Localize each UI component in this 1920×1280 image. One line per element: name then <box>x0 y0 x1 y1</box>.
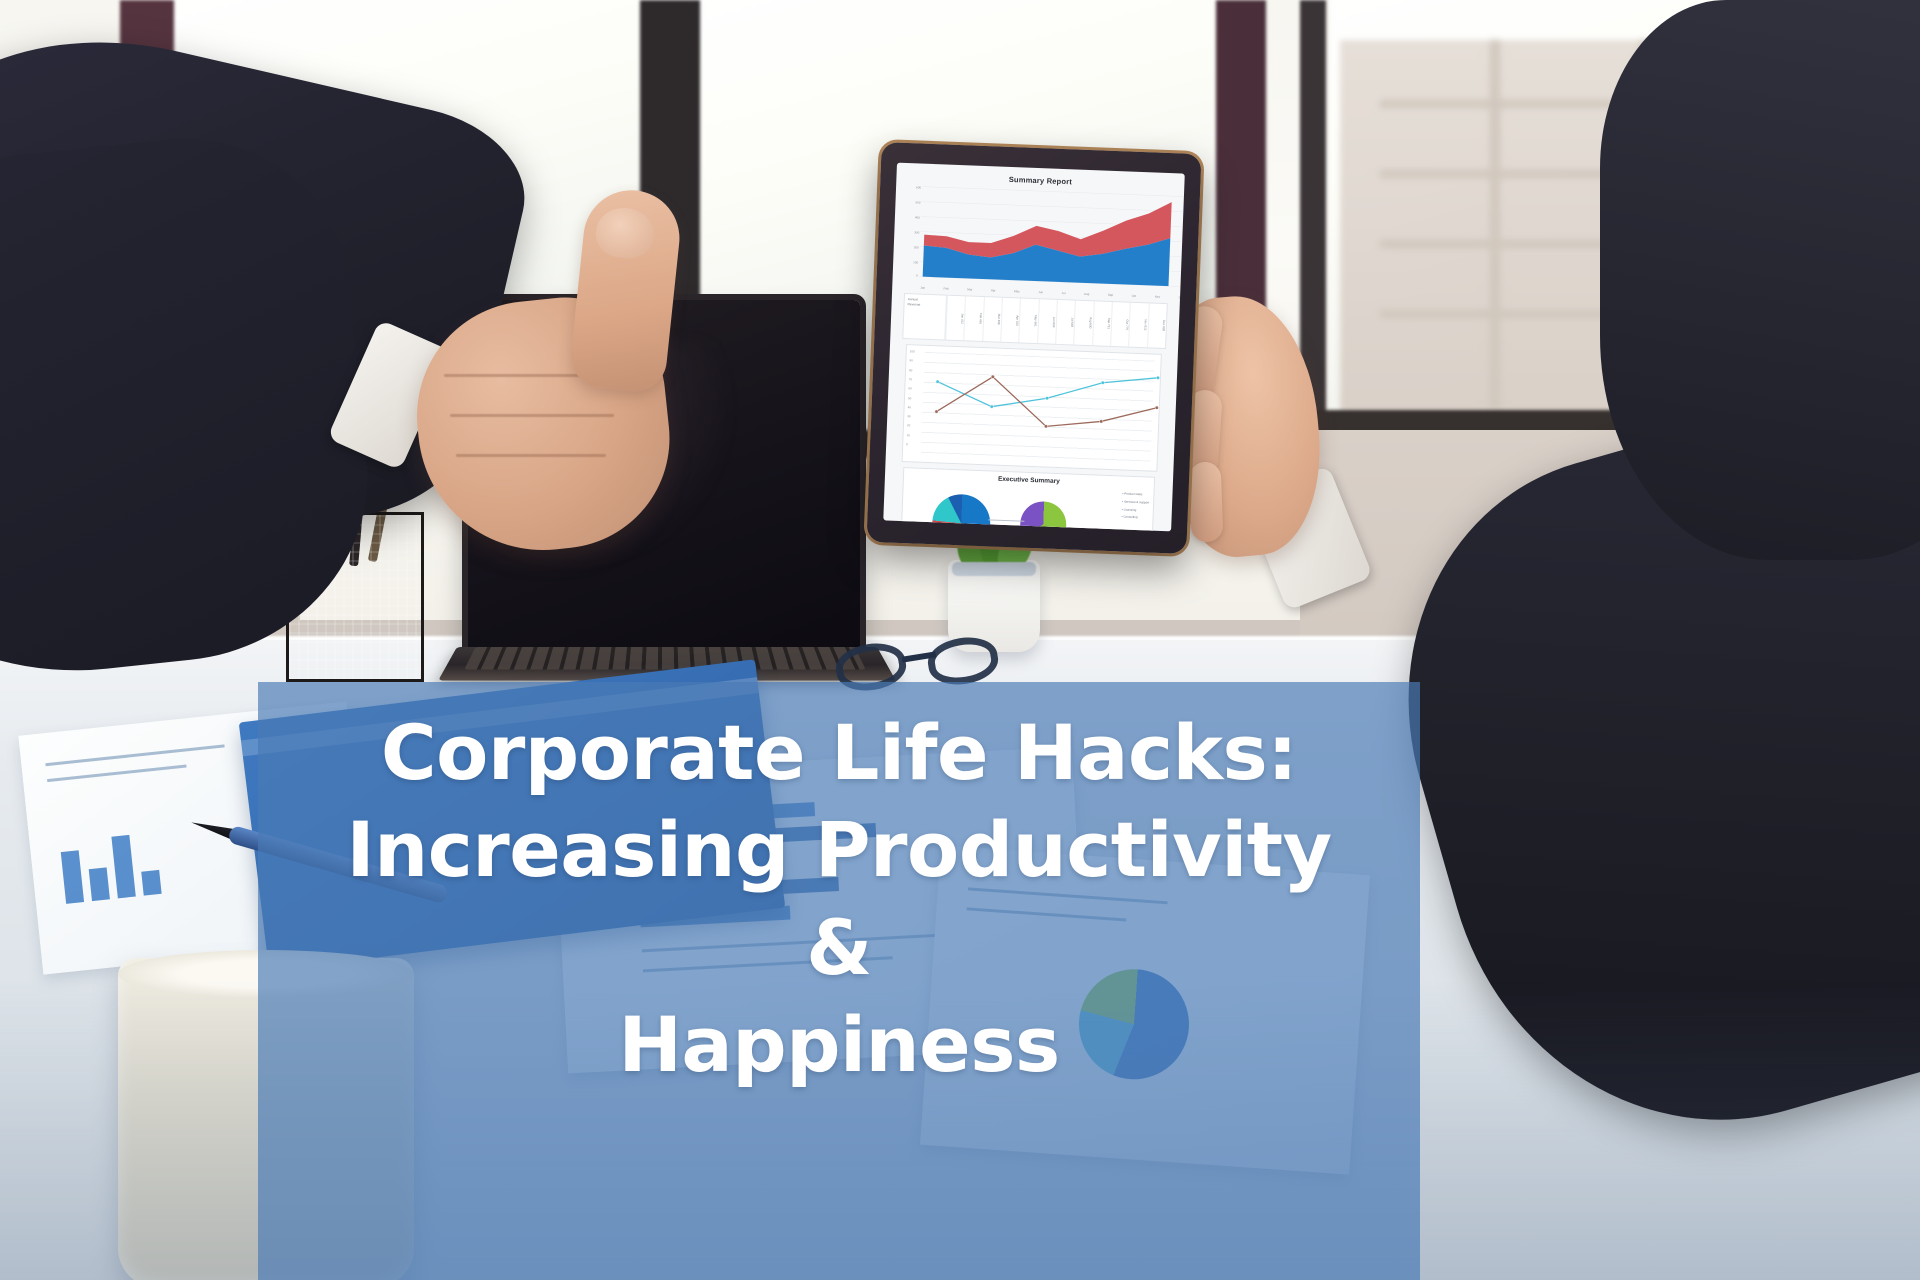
table-cell: Apr 520 <box>1000 298 1020 343</box>
line-chart-y-tick: 60 <box>908 386 911 390</box>
table-cell: Sep 731 <box>1092 301 1112 346</box>
line-chart-y-tick: 30 <box>907 414 910 418</box>
title-line-3: Happiness <box>324 996 1354 1093</box>
banner-image: Summary Report 600 500 400 300 200 100 0… <box>0 0 1920 1280</box>
page-title: Corporate Life Hacks: Increasing Product… <box>324 704 1354 1093</box>
pie-connector-line <box>988 519 1024 521</box>
area-chart-plot <box>919 184 1185 290</box>
table-cell: May 561 <box>1019 298 1039 343</box>
table-cell: Nov 812 <box>1128 303 1148 348</box>
table-cell: Aug 690 <box>1073 301 1093 346</box>
line-chart-y-tick: 70 <box>909 377 912 381</box>
line-chart-y-tick: 0 <box>906 442 908 446</box>
table-cell: Mar 498 <box>982 297 1002 342</box>
line-chart-y-tick: 90 <box>909 359 912 363</box>
title-line-1: Corporate Life Hacks: <box>324 704 1354 801</box>
line-chart-y-tick: 20 <box>907 424 910 428</box>
title-overlay-content: Corporate Life Hacks: Increasing Product… <box>258 682 1420 1280</box>
table-cell: Jul 648 <box>1055 300 1075 345</box>
laptop-keys <box>464 647 865 669</box>
table-cell: Jan 412 <box>945 296 965 341</box>
tablet-pie-section: Executive Summary Product salesServices … <box>900 467 1155 531</box>
table-row-label: AnnualRevenue <box>903 294 947 340</box>
table-cells: Jan 412Feb 455Mar 498Apr 520May 561Jun 6… <box>945 296 1167 348</box>
table-cell: Dec 858 <box>1147 303 1167 348</box>
tablet-line-chart: 1009080706050403020100 <box>902 344 1162 472</box>
tablet-device: Summary Report 600 500 400 300 200 100 0… <box>866 142 1201 554</box>
line-chart-y-tick: 100 <box>910 349 915 353</box>
title-line-2: Increasing Productivity & <box>324 801 1354 996</box>
table-cell: Jun 604 <box>1037 299 1057 344</box>
line-chart-y-tick: 40 <box>908 405 911 409</box>
line-chart-y-tick: 80 <box>909 368 912 372</box>
tablet-area-chart: 600 500 400 300 200 100 0 JanFebMarAprMa… <box>904 183 1172 299</box>
right-person-suit-shoulder <box>1600 0 1920 560</box>
pie-chart-legend: Product salesServices & supportLicensing… <box>1121 491 1149 523</box>
line-chart-y-tick: 50 <box>908 396 911 400</box>
tablet-data-table: AnnualRevenue Jan 412Feb 455Mar 498Apr 5… <box>902 293 1168 349</box>
line-chart-y-tick: 10 <box>906 433 909 437</box>
tablet-screen: Summary Report 600 500 400 300 200 100 0… <box>883 163 1185 532</box>
table-cell: Feb 455 <box>964 296 984 341</box>
line-chart-plot <box>921 352 1175 466</box>
legend-item: Consulting <box>1121 514 1148 523</box>
table-cell: Oct 775 <box>1110 302 1130 347</box>
finger <box>1189 461 1224 542</box>
executive-summary-title: Executive Summary <box>904 468 1154 489</box>
